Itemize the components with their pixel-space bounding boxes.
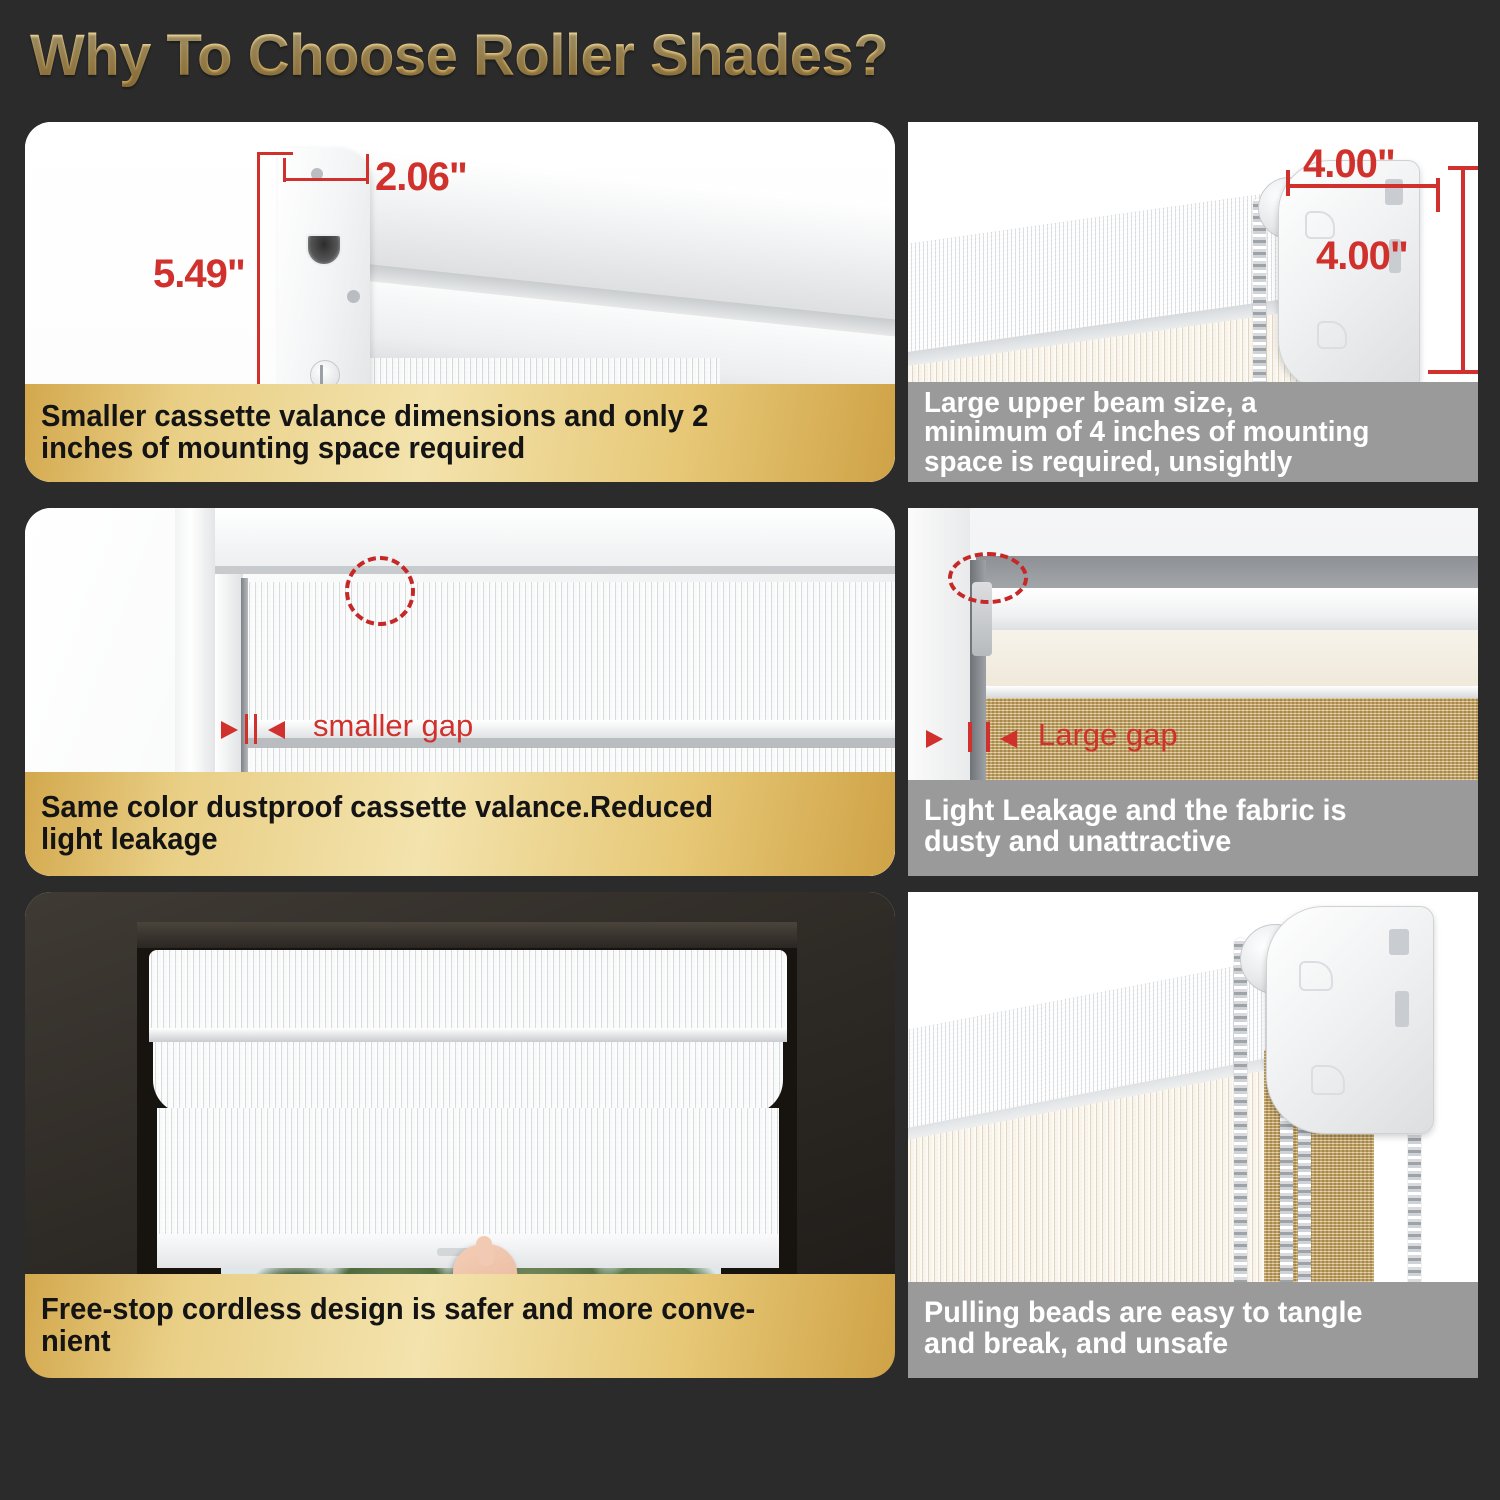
height-dimension-label: 5.49" (153, 252, 245, 297)
panel-cordless-design: Free-stop cordless design is safer and m… (25, 892, 895, 1378)
height-dimension-tick-bottom (1428, 370, 1478, 374)
width-dimension-tick-right (1436, 178, 1440, 212)
depth-dimension-line (283, 178, 369, 181)
height-dimension-label: 4.00" (1316, 234, 1408, 279)
gap-label: Large gap (1038, 717, 1178, 753)
highlight-circle (345, 556, 415, 626)
depth-dimension-tick-left (283, 158, 286, 182)
caption-line: nient (41, 1325, 831, 1357)
gap-tick (968, 722, 972, 752)
gap-arrow-left (268, 721, 285, 739)
caption-line: minimum of 4 inches of mounting (924, 418, 1442, 448)
caption-line: dusty and unattractive (924, 827, 1442, 858)
height-dimension-tick-top (257, 152, 293, 155)
depth-dimension-tick-right (366, 154, 369, 184)
caption-line: Free-stop cordless design is safer and m… (41, 1293, 831, 1325)
caption-line: Pulling beads are easy to tangle (924, 1298, 1442, 1329)
page-title: Why To Choose Roller Shades? (30, 22, 888, 89)
height-dimension-line (1461, 166, 1465, 374)
panel-pulling-beads: Pulling beads are easy to tangle and bre… (908, 892, 1478, 1378)
caption-light-leakage: Light Leakage and the fabric is dusty an… (908, 780, 1478, 876)
gap-tick (254, 714, 257, 744)
caption-line: space is required, unsightly (924, 448, 1442, 478)
gap-arrow-left (1000, 730, 1017, 748)
panel-upper-beam-size: 4.00" 4.00" Large upper beam size, a min… (908, 122, 1478, 482)
caption-dustproof-valance: Same color dustproof cassette valance.Re… (25, 772, 895, 876)
gap-arrow-right (926, 730, 943, 748)
caption-line: Large upper beam size, a (924, 389, 1442, 419)
gap-label: smaller gap (313, 708, 473, 744)
caption-line: Smaller cassette valance dimensions and … (41, 400, 831, 432)
caption-cordless-design: Free-stop cordless design is safer and m… (25, 1274, 895, 1378)
caption-line: Same color dustproof cassette valance.Re… (41, 791, 831, 823)
mounting-bracket (1266, 906, 1434, 1134)
panel-cassette-dimensions: 5.49" 2.06" Smaller cassette valance dim… (25, 122, 895, 482)
height-dimension-tick-top (1448, 166, 1478, 170)
panel-light-leakage: Large gap Light Leakage and the fabric i… (908, 508, 1478, 876)
caption-cassette-dimensions: Smaller cassette valance dimensions and … (25, 384, 895, 482)
width-dimension-label: 4.00" (1303, 142, 1395, 187)
caption-line: Light Leakage and the fabric is (924, 796, 1442, 827)
highlight-circle (948, 552, 1028, 604)
gap-tick (245, 714, 248, 744)
width-dimension-tick-left (1286, 170, 1290, 196)
caption-upper-beam-size: Large upper beam size, a minimum of 4 in… (908, 382, 1478, 482)
depth-dimension-label: 2.06" (375, 155, 467, 200)
caption-line: inches of mounting space required (41, 432, 831, 464)
caption-line: and break, and unsafe (924, 1329, 1442, 1360)
gap-arrow-right (221, 721, 238, 739)
gap-tick (986, 722, 990, 752)
caption-line: light leakage (41, 823, 831, 855)
caption-pulling-beads: Pulling beads are easy to tangle and bre… (908, 1282, 1478, 1378)
panel-dustproof-valance: smaller gap Same color dustproof cassett… (25, 508, 895, 876)
